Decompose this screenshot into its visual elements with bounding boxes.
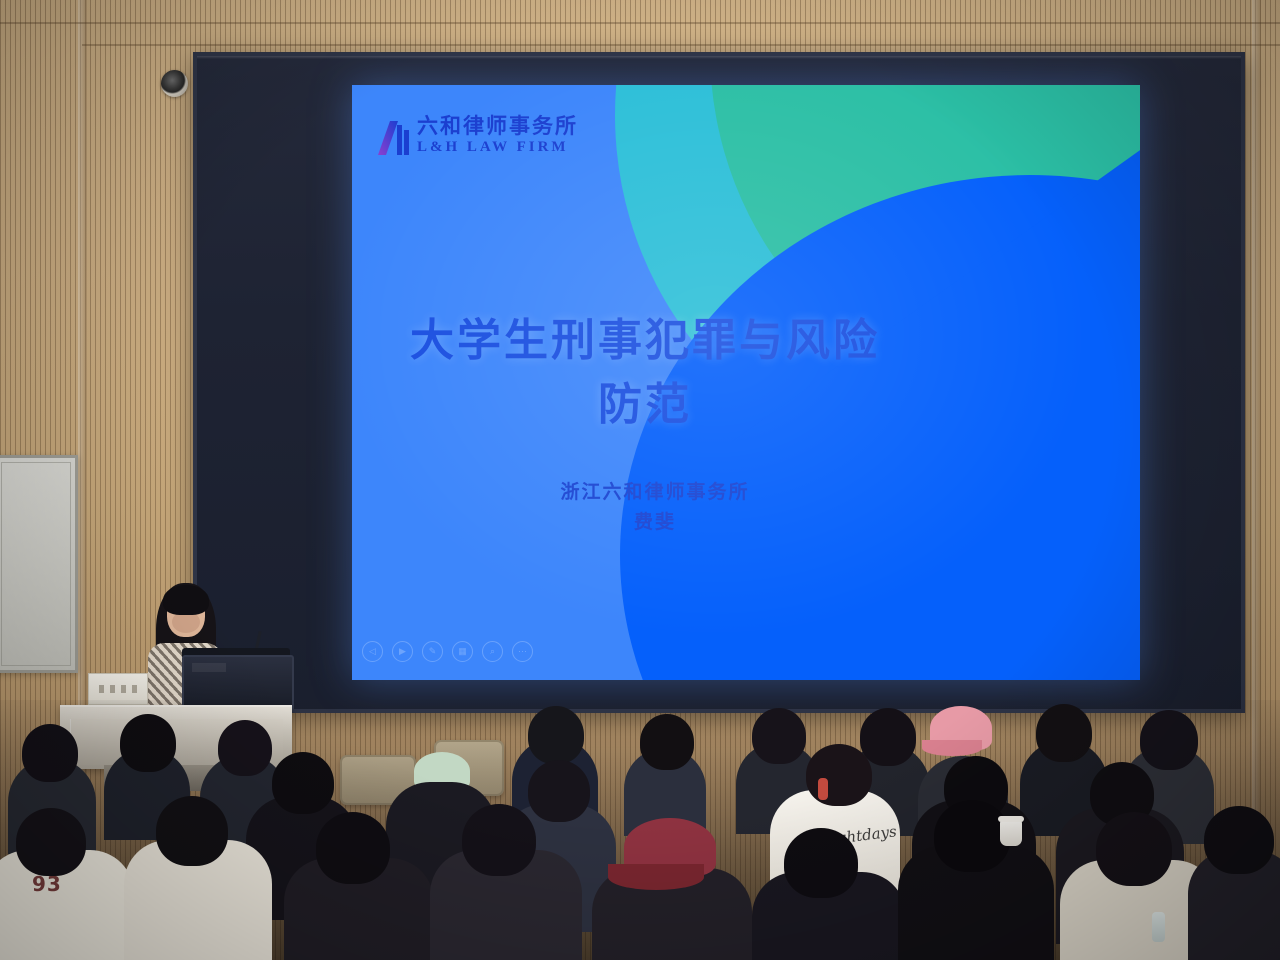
- slide-title: 大学生刑事犯罪与风险防范: [352, 304, 1140, 432]
- cup-icon: [1000, 820, 1022, 846]
- lecture-hall-photo: 六和律师事务所 L&H LAW FIRM 大学生刑事犯罪与风险防范 浙江六和律师…: [0, 0, 1280, 960]
- slide-toolbar[interactable]: ◁ ▶ ✎ ▦ ⌕ ⋯: [362, 641, 533, 662]
- attendee-head: [1036, 704, 1092, 762]
- cup-lid: [998, 816, 1024, 822]
- zoom-icon[interactable]: ⌕: [482, 641, 503, 662]
- attendee-head: [934, 800, 1010, 872]
- more-icon[interactable]: ⋯: [512, 641, 533, 662]
- attendee-head: [528, 706, 584, 764]
- attendee-head: [860, 708, 916, 766]
- attendee-head: [272, 752, 334, 814]
- attendee-head: [316, 812, 390, 884]
- attendee-head: [16, 808, 86, 876]
- logo-english: L&H LAW FIRM: [417, 140, 578, 155]
- law-firm-logo: 六和律师事务所 L&H LAW FIRM: [378, 116, 578, 155]
- ceiling-speaker-icon: [161, 70, 188, 97]
- attendee-head: [22, 724, 78, 782]
- logo-chinese: 六和律师事务所: [417, 116, 578, 137]
- pen-icon[interactable]: ✎: [422, 641, 443, 662]
- attendee-head: [462, 804, 536, 876]
- attendee-head: [528, 760, 590, 822]
- wall-trim-line: [82, 44, 1280, 46]
- audience: Allnightdays 93: [0, 700, 1280, 960]
- lh-monogram-icon: [378, 121, 410, 155]
- attendee-head: [752, 708, 806, 764]
- slide-presenter: 费斐: [352, 507, 1140, 534]
- attendee-head: [1140, 710, 1198, 770]
- presenter-fringe: [163, 585, 209, 615]
- logo-text-block: 六和律师事务所 L&H LAW FIRM: [417, 116, 578, 155]
- bottle-icon: [1152, 912, 1165, 942]
- attendee-head: [1204, 806, 1274, 874]
- pink-cap-brim: [922, 740, 982, 756]
- bottle-icon: [818, 778, 828, 800]
- attendee-head: [218, 720, 272, 776]
- grid-icon[interactable]: ▦: [452, 641, 473, 662]
- arrow-left-icon[interactable]: ◁: [362, 641, 383, 662]
- slide-organization: 浙江六和律师事务所: [352, 477, 1140, 504]
- attendee-head: [156, 796, 228, 866]
- wall-trim-line: [0, 22, 1280, 24]
- attendee-head: [784, 828, 858, 898]
- projected-slide[interactable]: 六和律师事务所 L&H LAW FIRM 大学生刑事犯罪与风险防范 浙江六和律师…: [352, 85, 1140, 680]
- attendee-head: [806, 744, 872, 806]
- attendee-head: [1096, 812, 1172, 886]
- monitor-reflection: [192, 663, 226, 672]
- attendee-head: [640, 714, 694, 770]
- red-cap-brim: [608, 864, 704, 890]
- attendee-head: [120, 714, 176, 772]
- play-icon[interactable]: ▶: [392, 641, 413, 662]
